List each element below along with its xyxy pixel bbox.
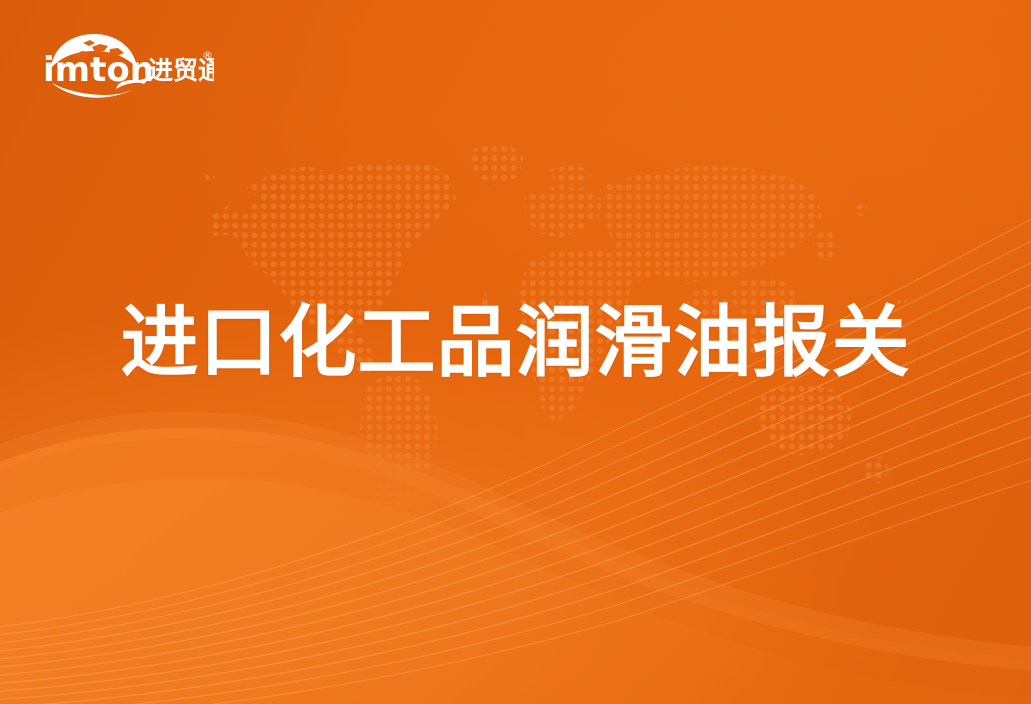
page-title: 进口化工品润滑油报关 (0, 302, 1031, 385)
logo-latin-text: imton (43, 50, 154, 90)
registered-trademark-icon: ® (202, 49, 213, 62)
banner-slide: imton 进贸通 ® 进口化工品润滑油报关 (0, 0, 1031, 704)
brand-logo[interactable]: imton 进贸通 ® (38, 27, 214, 99)
